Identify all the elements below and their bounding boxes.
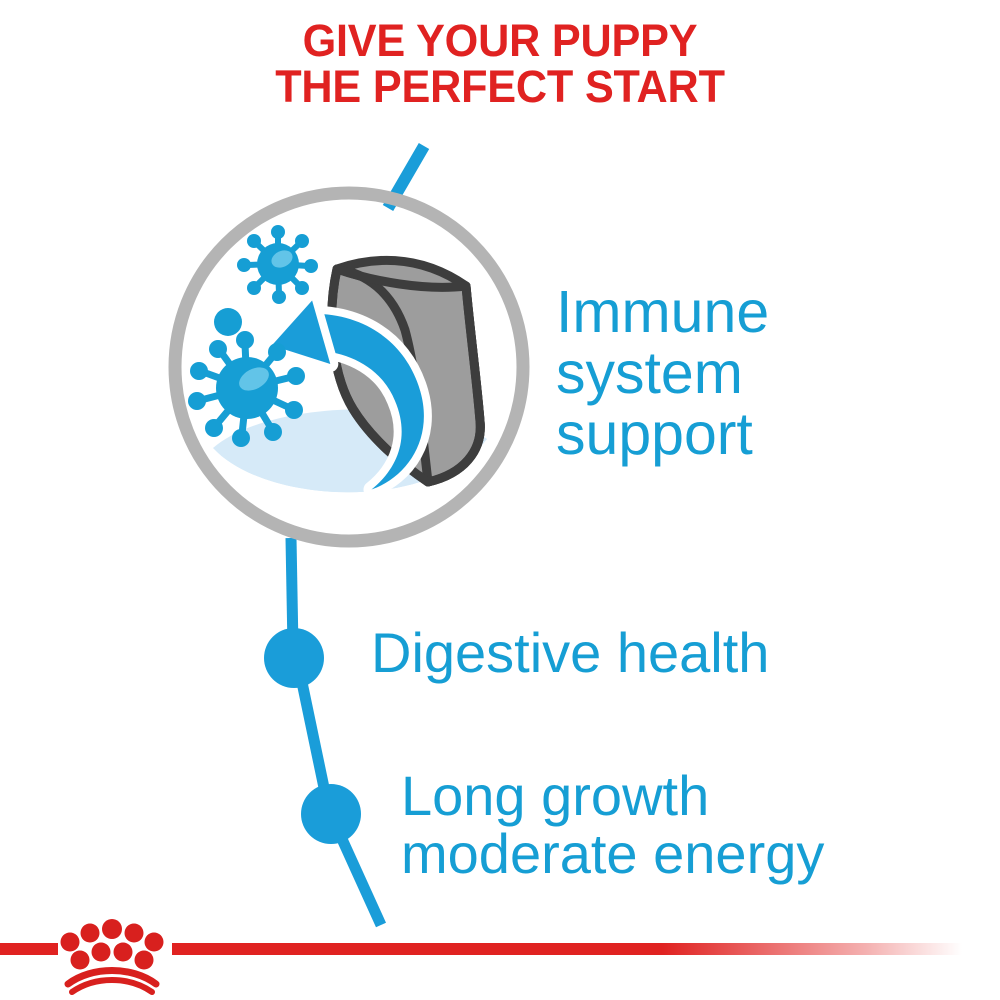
footer-rule-right [172, 943, 962, 955]
benefit-label-immune-system-support: Immune system support [556, 282, 769, 464]
benefit-1-line-2: system [556, 343, 769, 404]
germ-small-icon [237, 225, 318, 304]
benefit-1-line-1: Immune [556, 282, 769, 343]
benefit-2-line-1: Digestive health [371, 625, 769, 681]
benefit-1-line-3: support [556, 404, 769, 465]
immune-shield-icon [175, 193, 523, 541]
node-dot-growth [301, 784, 361, 844]
node-dot-digestive [264, 628, 324, 688]
germ-dot-icon [214, 308, 242, 336]
benefit-label-long-growth-moderate-energy: Long growth moderate energy [401, 767, 824, 883]
benefit-label-digestive-health: Digestive health [371, 625, 769, 681]
benefit-3-line-1: Long growth [401, 767, 824, 825]
crown-arc-inner [72, 980, 152, 992]
footer-rule-left [0, 943, 58, 955]
benefit-3-line-2: moderate energy [401, 825, 824, 883]
promo-panel: GIVE YOUR PUPPY THE PERFECT START [0, 0, 1000, 1000]
connector-segment-2 [299, 668, 327, 802]
royal-canin-crown-logo [61, 919, 164, 992]
footer-brand-bar [0, 900, 1000, 1000]
